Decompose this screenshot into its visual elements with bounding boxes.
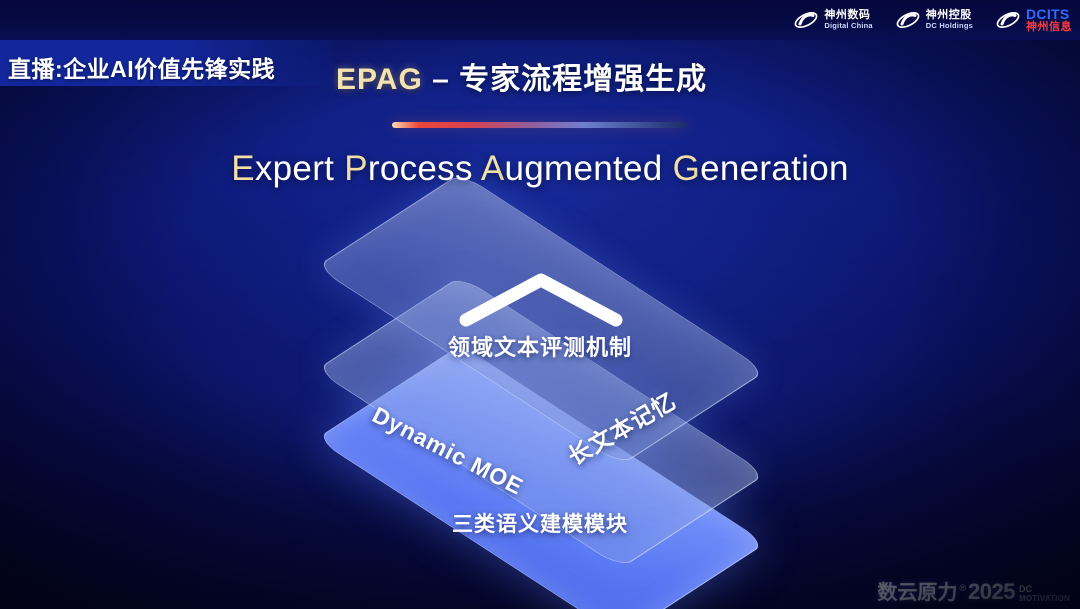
title-chinese: 专家流程增强生成: [459, 63, 707, 96]
subtitle-initial-g: G: [673, 149, 701, 188]
partner-cn-dcits: 神州信息: [1026, 22, 1072, 34]
swirl-logo-icon: [895, 9, 921, 31]
gradient-divider: [392, 122, 687, 128]
partner-logo-group: 神州数码 Digital China 神州控股 DC Holdings DCIT…: [793, 4, 1072, 36]
subtitle-word-expert: xpert: [255, 149, 344, 188]
partner-text-digital-china: 神州数码 Digital China: [824, 10, 872, 29]
partner-text-dcits: DCITS 神州信息: [1026, 7, 1072, 33]
partner-logo-digital-china: 神州数码 Digital China: [793, 9, 872, 31]
title-acronym: EPAG: [336, 63, 423, 96]
partner-logo-dc-holdings: 神州控股 DC Holdings: [895, 9, 973, 31]
slide-canvas: 数云原力 ® 2025 DC MOTIVATION 神州数码 Digital C…: [0, 0, 1080, 609]
page-title: EPAG – 专家流程增强生成: [336, 54, 707, 98]
partner-text-dc-holdings: 神州控股 DC Holdings: [926, 10, 973, 29]
subtitle-initial-e: E: [231, 149, 255, 188]
diagram-label-top: 领域文本评测机制: [0, 330, 1080, 362]
subtitle-initial-a: A: [481, 149, 505, 188]
swirl-logo-icon: [995, 9, 1021, 31]
subtitle-initial-p: P: [344, 149, 368, 188]
swirl-logo-icon: [793, 9, 819, 31]
title-separator: –: [423, 63, 459, 96]
subtitle-word-generation: eneration: [700, 149, 849, 188]
partner-en-dc-holdings: DC Holdings: [926, 22, 973, 30]
subtitle: Expert Process Augmented Generation: [0, 149, 1080, 189]
partner-en-digital-china: Digital China: [824, 22, 872, 30]
partner-en-dcits: DCITS: [1026, 7, 1072, 22]
live-banner-text: 直播:企业AI价值先锋实践: [8, 50, 275, 84]
diagram-label-bottom: 三类语义建模模块: [0, 508, 1080, 538]
subtitle-word-process: rocess: [368, 149, 481, 188]
partner-logo-dcits: DCITS 神州信息: [995, 7, 1072, 33]
chevron-up-icon: [458, 272, 624, 328]
subtitle-word-augmented: ugmented: [505, 149, 673, 188]
